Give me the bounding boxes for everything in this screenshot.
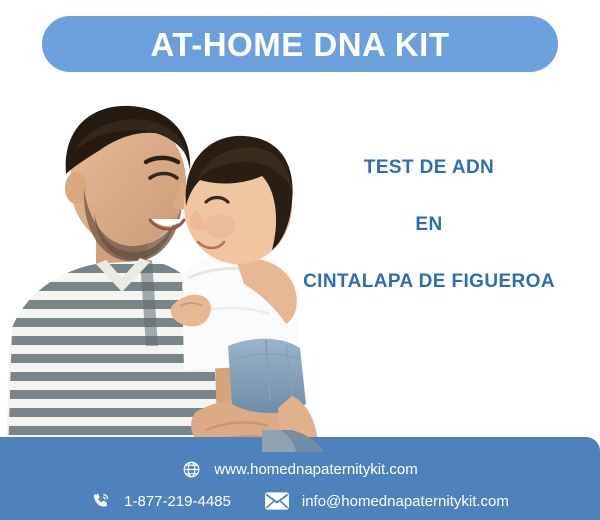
- headline-line-1: TEST DE ADN: [268, 158, 590, 177]
- globe-icon: [182, 460, 201, 479]
- website-text: www.homednapaternitykit.com: [214, 462, 417, 477]
- phone-contact-item[interactable]: 1-877-219-4485: [91, 491, 231, 511]
- email-text: info@homednapaternitykit.com: [302, 494, 509, 509]
- headline-block: TEST DE ADN EN CINTALAPA DE FIGUEROA: [268, 158, 590, 291]
- website-contact-item[interactable]: www.homednapaternitykit.com: [182, 460, 417, 479]
- phone-icon: [91, 491, 111, 511]
- headline-line-3: CINTALAPA DE FIGUEROA: [268, 272, 590, 291]
- footer-row-website: www.homednapaternitykit.com: [0, 460, 600, 479]
- footer-row-phone-email: 1-877-219-4485 info@homednapaternitykit.…: [0, 491, 600, 511]
- phone-text: 1-877-219-4485: [124, 494, 231, 509]
- page-title: AT-HOME DNA KIT: [151, 28, 450, 61]
- photo-footer-overlap: [262, 430, 334, 452]
- title-badge: AT-HOME DNA KIT: [42, 16, 558, 72]
- email-contact-item[interactable]: info@homednapaternitykit.com: [265, 492, 509, 510]
- headline-line-2: EN: [268, 215, 590, 234]
- envelope-icon: [265, 492, 289, 510]
- poster-canvas: AT-HOME DNA KIT: [0, 0, 600, 520]
